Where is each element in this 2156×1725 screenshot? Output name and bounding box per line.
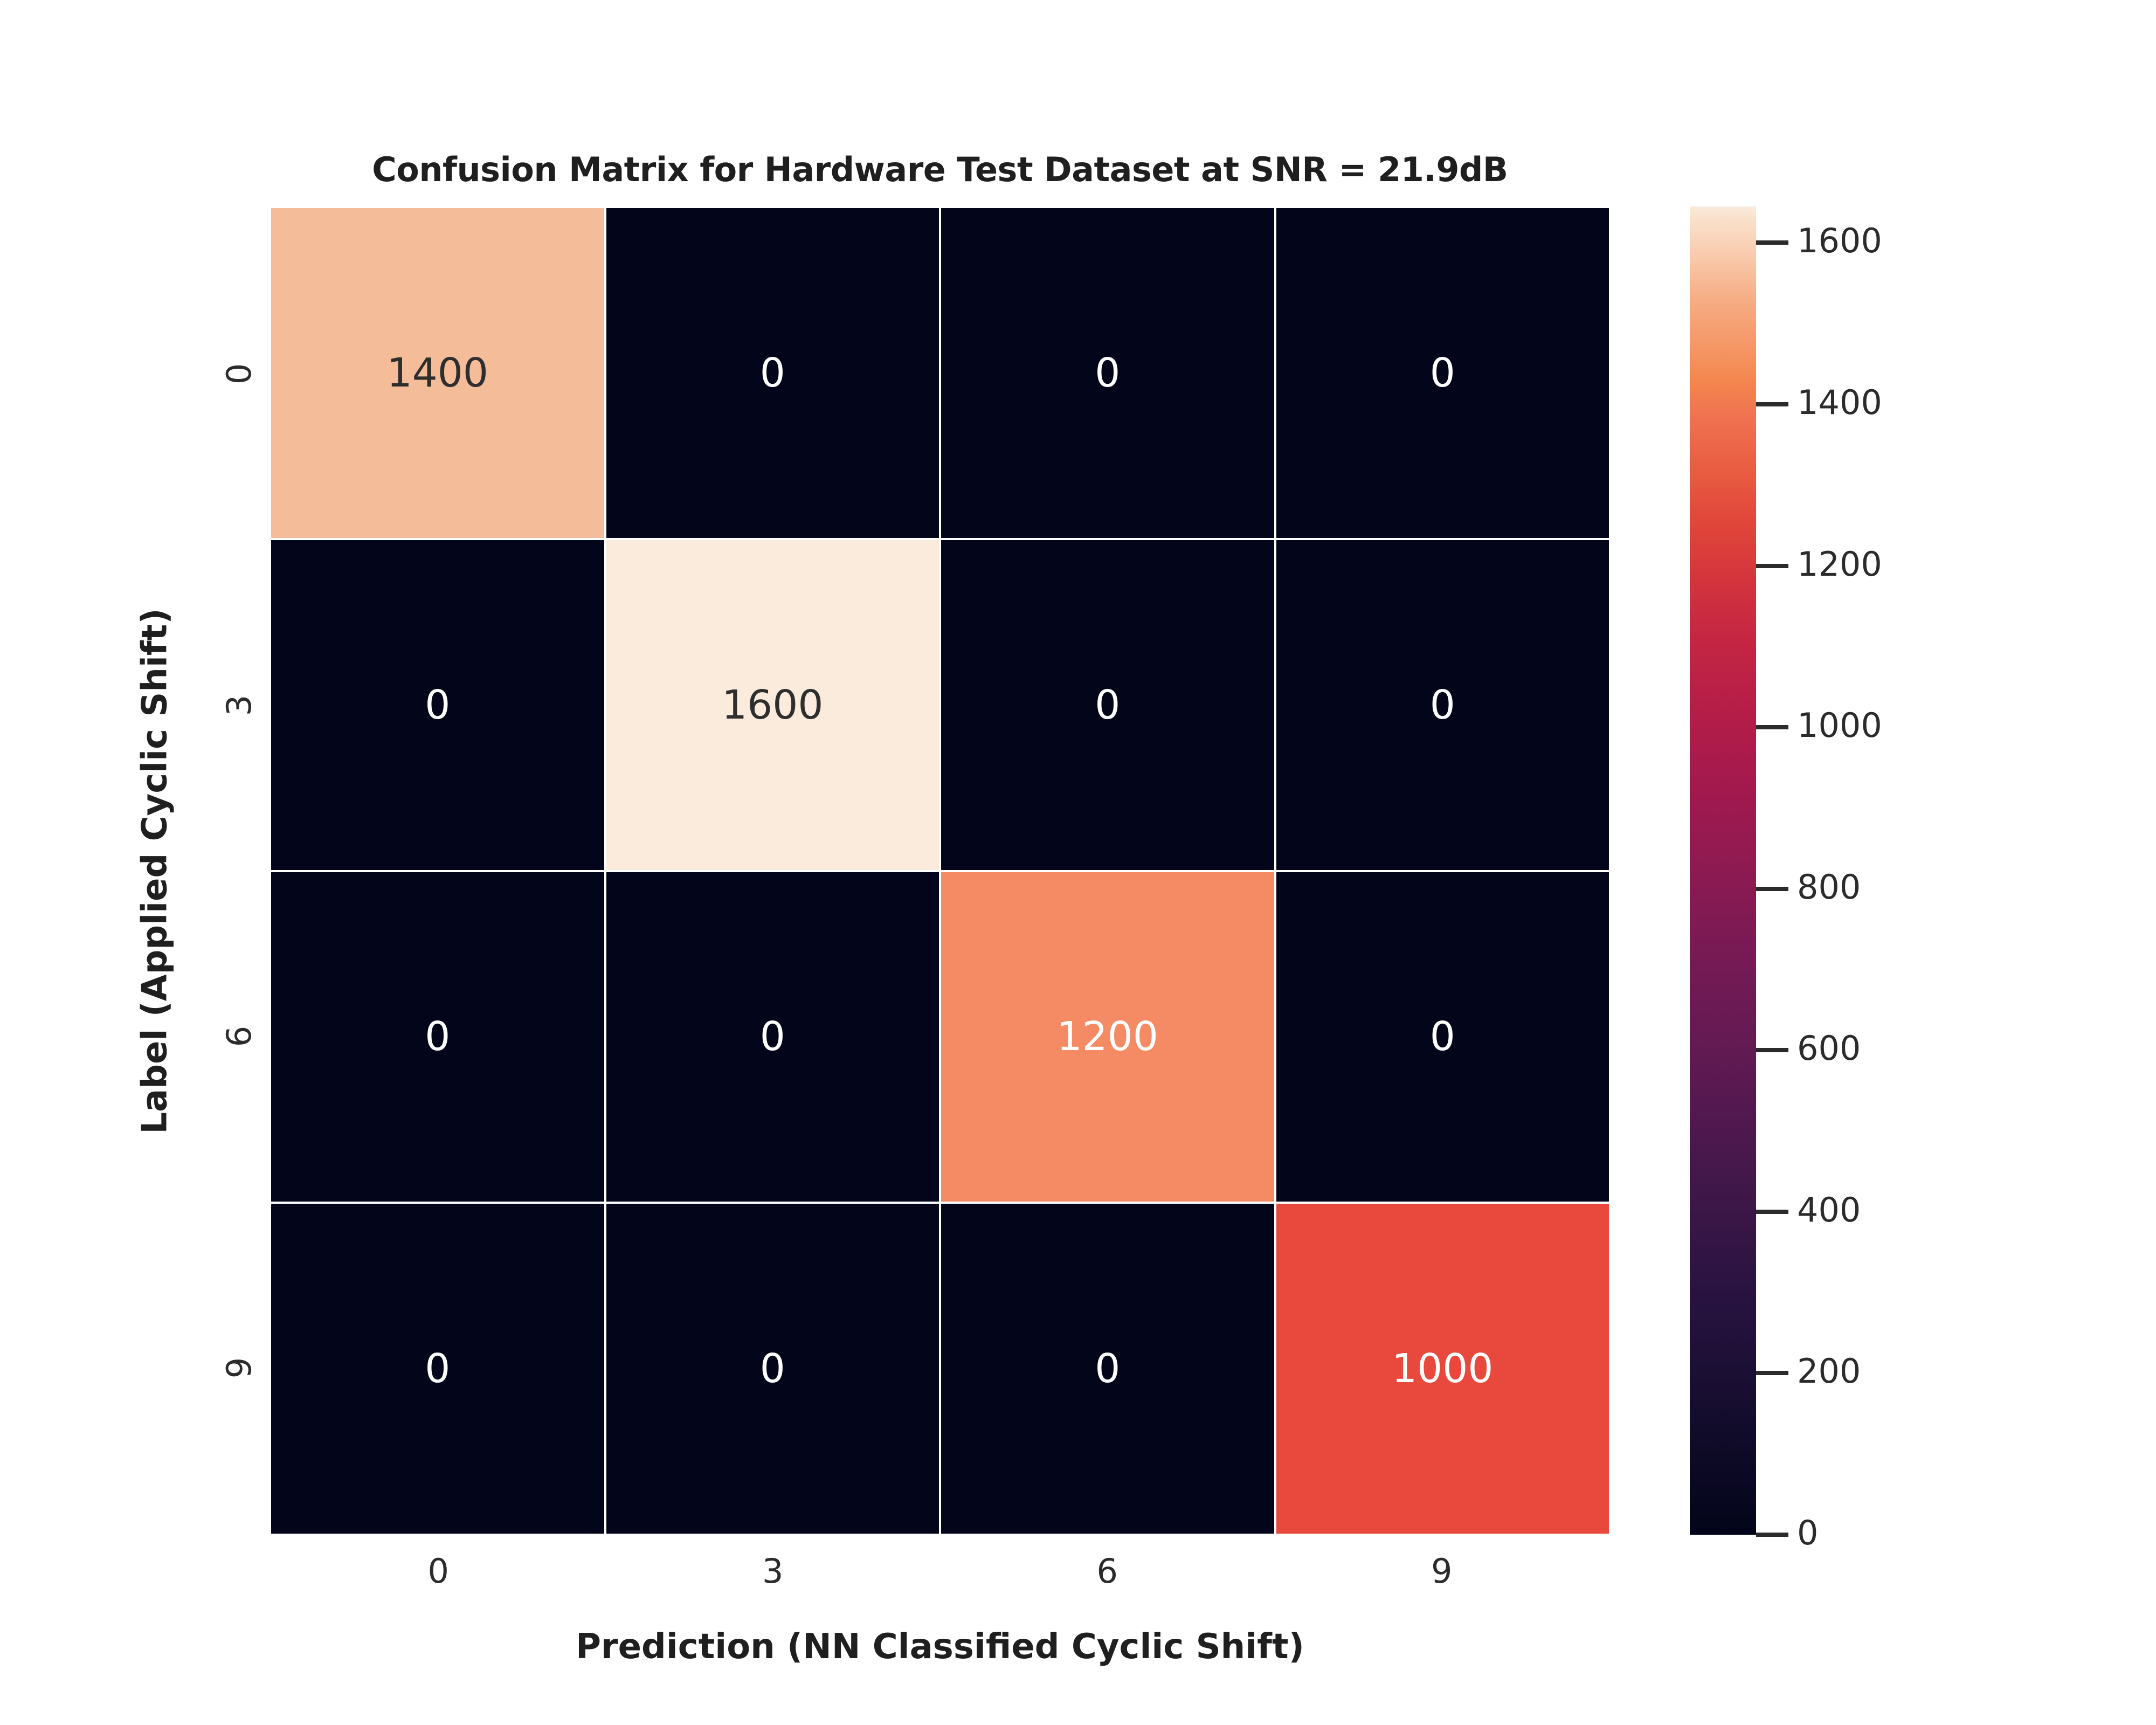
y-tick-label-9: 9 [185, 1202, 250, 1534]
figure-canvas: Confusion Matrix for Hardware Test Datas… [0, 0, 2156, 1725]
y-axis-label: Label (Applied Cyclic Shift) [135, 608, 175, 1134]
x-tick-label-6: 6 [940, 1551, 1275, 1591]
heatmap-cell-value: 0 [1095, 353, 1120, 393]
heatmap-cell-3-0: 0 [271, 540, 604, 870]
colorbar-tick-mark-1000 [1756, 725, 1788, 729]
colorbar-gradient [1690, 206, 1756, 1535]
heatmap-cell-0-0: 1400 [271, 208, 604, 538]
heatmap-cell-value: 1600 [722, 685, 823, 725]
heatmap-cell-value: 0 [1430, 685, 1455, 725]
chart-title: Confusion Matrix for Hardware Test Datas… [271, 150, 1609, 189]
y-tick-label-3: 3 [185, 540, 250, 871]
heatmap-cell-value: 0 [1095, 1349, 1120, 1389]
x-axis-label: Prediction (NN Classified Cyclic Shift) [271, 1627, 1609, 1667]
colorbar-tick-label-0: 0 [1797, 1513, 1818, 1552]
heatmap-cell-value: 0 [425, 1017, 450, 1057]
heatmap-cell-value: 0 [1430, 1017, 1455, 1057]
heatmap-cell-0-9: 0 [1276, 208, 1609, 538]
heatmap-cell-value: 1000 [1392, 1349, 1493, 1389]
heatmap-cell-value: 0 [1095, 685, 1120, 725]
colorbar-tick-label-600: 600 [1797, 1029, 1861, 1068]
colorbar-tick-mark-800 [1756, 887, 1788, 891]
colorbar-tick-mark-1200 [1756, 564, 1788, 568]
heatmap-cell-value: 0 [425, 1349, 450, 1389]
confusion-matrix-heatmap: 1400000016000000120000001000 [271, 208, 1609, 1534]
colorbar-tick-label-1400: 1400 [1797, 383, 1882, 422]
heatmap-cell-3-9: 0 [1276, 540, 1609, 870]
heatmap-cell-3-6: 0 [941, 540, 1274, 870]
heatmap-cell-value: 0 [760, 1017, 785, 1057]
heatmap-cell-value: 1200 [1057, 1017, 1158, 1057]
heatmap-cell-value: 0 [760, 353, 785, 393]
heatmap-cell-9-6: 0 [941, 1204, 1274, 1534]
heatmap-cell-3-3: 1600 [606, 540, 939, 870]
y-tick-label-0: 0 [185, 208, 250, 540]
heatmap-cell-6-0: 0 [271, 872, 604, 1202]
y-tick-label-6: 6 [185, 871, 250, 1203]
heatmap-cell-9-0: 0 [271, 1204, 604, 1534]
colorbar-tick-mark-200 [1756, 1371, 1788, 1375]
colorbar-tick-mark-400 [1756, 1210, 1788, 1214]
colorbar-tick-label-200: 200 [1797, 1351, 1861, 1391]
heatmap-cell-9-9: 1000 [1276, 1204, 1609, 1534]
heatmap-cell-0-6: 0 [941, 208, 1274, 538]
colorbar-tick-label-800: 800 [1797, 867, 1861, 907]
heatmap-cell-value: 0 [1430, 353, 1455, 393]
heatmap-cell-0-3: 0 [606, 208, 939, 538]
x-tick-label-0: 0 [271, 1551, 606, 1591]
x-tick-label-9: 9 [1275, 1551, 1609, 1591]
colorbar-tick-mark-1400 [1756, 402, 1788, 406]
heatmap-cell-6-9: 0 [1276, 872, 1609, 1202]
y-axis-label-wrapper: Label (Applied Cyclic Shift) [128, 208, 182, 1534]
heatmap-cell-value: 0 [425, 685, 450, 725]
heatmap-cell-6-6: 1200 [941, 872, 1274, 1202]
x-tick-label-3: 3 [606, 1551, 941, 1591]
colorbar-tick-mark-600 [1756, 1048, 1788, 1052]
colorbar-tick-mark-0 [1756, 1533, 1788, 1537]
heatmap-cell-9-3: 0 [606, 1204, 939, 1534]
colorbar-tick-mark-1600 [1756, 240, 1788, 245]
colorbar-tick-label-1600: 1600 [1797, 221, 1882, 260]
colorbar-tick-label-1200: 1200 [1797, 544, 1882, 584]
colorbar-tick-label-400: 400 [1797, 1190, 1861, 1230]
heatmap-cell-value: 1400 [387, 353, 488, 393]
heatmap-cell-6-3: 0 [606, 872, 939, 1202]
colorbar-tick-label-1000: 1000 [1797, 706, 1882, 745]
heatmap-cell-value: 0 [760, 1349, 785, 1389]
